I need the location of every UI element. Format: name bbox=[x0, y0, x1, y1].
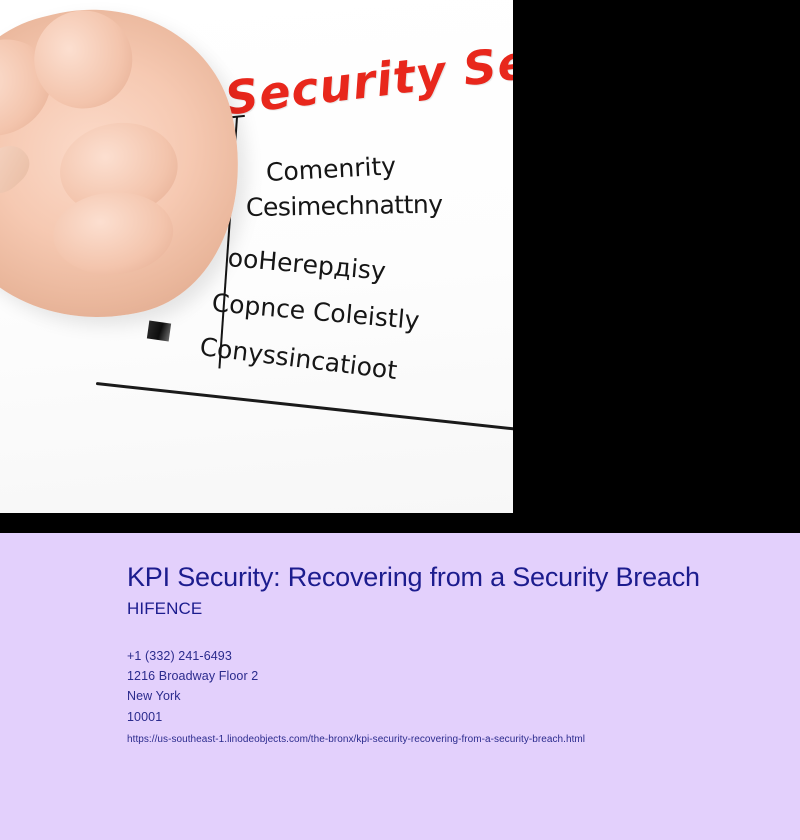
contact-city: New York bbox=[127, 686, 747, 706]
caption-panel: KPI Security: Recovering from a Security… bbox=[0, 533, 800, 840]
brand-name: HIFENCE bbox=[127, 599, 747, 619]
contact-street: 1216 Broadway Floor 2 bbox=[127, 666, 747, 686]
hero-stage: Security Seci ✔ ✔ Comenrity Cesimechnatt… bbox=[0, 0, 800, 533]
page-title: KPI Security: Recovering from a Security… bbox=[127, 562, 747, 594]
hero-image: Security Seci ✔ ✔ Comenrity Cesimechnatt… bbox=[0, 0, 513, 513]
checklist-item-2: Cesimechnattny bbox=[246, 190, 443, 222]
caption-content: KPI Security: Recovering from a Security… bbox=[127, 562, 747, 745]
contact-list: +1 (332) 241-6493 1216 Broadway Floor 2 … bbox=[127, 646, 747, 727]
contact-zip: 10001 bbox=[127, 707, 747, 727]
thumbnail bbox=[0, 137, 37, 202]
contact-phone: +1 (332) 241-6493 bbox=[127, 646, 747, 666]
source-url-link[interactable]: https://us-southeast-1.linodeobjects.com… bbox=[127, 734, 747, 745]
page-root: { "page": { "background_color": "#000000… bbox=[0, 0, 800, 840]
checkbox-marker-5 bbox=[147, 321, 171, 342]
